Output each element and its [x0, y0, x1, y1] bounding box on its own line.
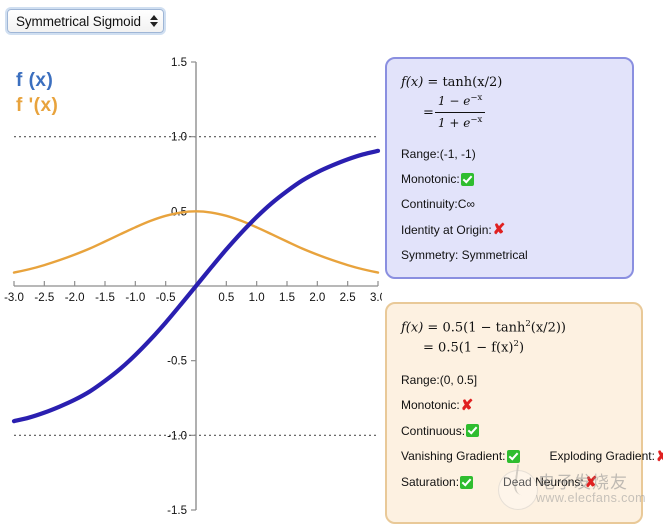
x-tick-label: -0.5	[156, 292, 176, 304]
check-icon	[507, 450, 520, 463]
x-tick-label: 2.0	[309, 292, 325, 304]
property-row: Symmetry: Symmetrical	[401, 248, 616, 262]
property-row: Identity at Origin:✘	[401, 222, 616, 237]
property-label: Continuous:	[401, 424, 465, 438]
y-tick-label: 1.0	[171, 132, 187, 144]
property-row-secondary: Exploding Gradient:✘	[550, 449, 663, 464]
stepper-updown-icon[interactable]	[148, 12, 159, 30]
property-row-secondary: Dead Neurons:✘	[503, 475, 597, 490]
formula-equals: =	[423, 106, 434, 121]
x-tick-label: -2.5	[34, 292, 54, 304]
property-label: Symmetry: Symmetrical	[401, 248, 528, 262]
property-row: Monotonic:	[401, 172, 616, 186]
numerator-exponent: −x	[470, 93, 482, 103]
cross-icon: ✘	[493, 222, 506, 237]
property-label: Monotonic:	[401, 398, 460, 412]
x-tick-label: -1.0	[125, 292, 145, 304]
formula-rhs: tanh(x/2)	[442, 75, 502, 90]
cross-icon: ✘	[461, 398, 474, 413]
y-tick-group: 1.51.00.5-0.5-1.0-1.5	[167, 57, 196, 517]
function-formula-line2: =1 − e−x1 + e−x	[401, 93, 616, 133]
function-info-card: f(x) = tanh(x/2) =1 − e−x1 + e−x Range:(…	[385, 57, 634, 279]
property-label: Range:(0, 0.5]	[401, 373, 477, 387]
check-icon	[460, 476, 473, 489]
formula-lhs: f(x) =	[401, 75, 438, 90]
property-label: Monotonic:	[401, 172, 460, 186]
check-icon	[466, 424, 479, 437]
property-label: Identity at Origin:	[401, 223, 492, 237]
y-tick-label: -0.5	[167, 356, 187, 368]
x-tick-label: -2.0	[65, 292, 85, 304]
property-label: Saturation:	[401, 475, 459, 489]
dformula-rhs-a: 0.5(1 − tanh	[442, 320, 525, 335]
x-tick-label: 1.0	[249, 292, 265, 304]
chevron-down-icon	[150, 22, 158, 27]
fraction-numerator: 1 − e−x	[435, 92, 485, 113]
cross-icon: ✘	[656, 449, 663, 464]
dformula-l2-a: 0.5(1 − f(x)	[438, 341, 513, 356]
fraction-denominator: 1 + e−x	[435, 113, 485, 133]
y-tick-label: -1.5	[167, 505, 187, 517]
function-select[interactable]: Symmetrical Sigmoid	[7, 9, 164, 33]
property-label: Vanishing Gradient:	[401, 449, 506, 463]
derivative-formula-line2: = 0.5(1 − f(x)2)	[401, 338, 625, 358]
x-tick-label: 1.5	[279, 292, 295, 304]
property-label: Range:(-1, -1)	[401, 147, 476, 161]
function-formula-line1: f(x) = tanh(x/2)	[401, 73, 616, 93]
derivative-properties-list: Range:(0, 0.5]Monotonic:✘Continuous:Vani…	[401, 373, 625, 490]
x-tick-label: -3.0	[4, 292, 24, 304]
property-row: Range:(-1, -1)	[401, 147, 616, 161]
dformula-rhs-b: (x/2))	[531, 320, 566, 335]
property-label: Dead Neurons:	[503, 475, 584, 489]
plot-svg: 1.51.00.5-0.5-1.0-1.5 -3.0-2.5-2.0-1.5-1…	[0, 48, 382, 518]
y-tick-label: -1.0	[167, 430, 187, 442]
derivative-info-card: f(x) = 0.5(1 − tanh2(x/2)) = 0.5(1 − f(x…	[385, 302, 643, 524]
numerator-text: 1 − e	[438, 94, 470, 108]
x-tick-label: 3.0	[370, 292, 382, 304]
property-label: Exploding Gradient:	[550, 449, 655, 463]
activation-function-plot: 1.51.00.5-0.5-1.0-1.5 -3.0-2.5-2.0-1.5-1…	[0, 48, 382, 518]
property-row: Continuous:	[401, 424, 625, 438]
function-select-value: Symmetrical Sigmoid	[16, 14, 148, 29]
property-row: Vanishing Gradient:Exploding Gradient:✘	[401, 449, 625, 464]
x-tick-label: 2.5	[340, 292, 356, 304]
x-tick-label: 0.5	[218, 292, 234, 304]
property-row: Range:(0, 0.5]	[401, 373, 625, 387]
property-label: Continuity:C∞	[401, 197, 475, 211]
dformula-lhs: f(x) =	[401, 320, 438, 335]
denominator-exponent: −x	[470, 115, 482, 125]
chevron-up-icon	[150, 15, 158, 20]
denominator-text: 1 + e	[438, 116, 470, 130]
formula-fraction: 1 − e−x1 + e−x	[435, 92, 485, 132]
dformula-equals: =	[423, 341, 434, 356]
property-row: Continuity:C∞	[401, 197, 616, 211]
property-row: Saturation:Dead Neurons:✘	[401, 475, 625, 490]
derivative-formula-line1: f(x) = 0.5(1 − tanh2(x/2))	[401, 318, 625, 338]
x-tick-label: -1.5	[95, 292, 115, 304]
function-properties-list: Range:(-1, -1)Monotonic:Continuity:C∞Ide…	[401, 147, 616, 262]
property-row: Monotonic:✘	[401, 398, 625, 413]
dformula-l2-b: )	[519, 341, 524, 356]
check-icon	[461, 173, 474, 186]
y-tick-label: 1.5	[171, 57, 187, 69]
cross-icon: ✘	[585, 475, 598, 490]
